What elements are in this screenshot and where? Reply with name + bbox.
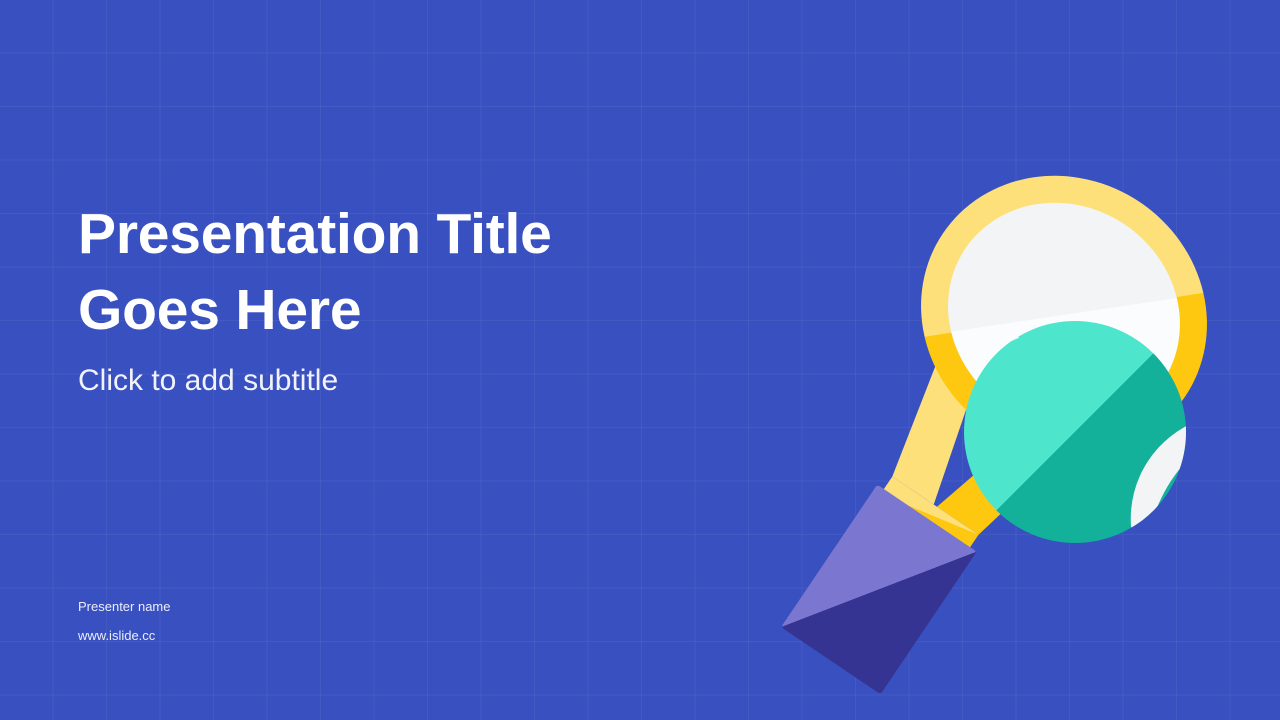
slide-subtitle[interactable]: Click to add subtitle (78, 363, 718, 399)
throat-strut-right (937, 407, 1068, 550)
slide-footer: Presenter name www.islide.cc (78, 592, 171, 650)
ball-body (964, 321, 1186, 543)
racket-head-frame (867, 121, 1261, 510)
presentation-slide: Presentation Title Goes Here Click to ad… (0, 0, 1280, 720)
throat-strut-left (870, 362, 1001, 505)
ball-seam-lower-right (1131, 420, 1245, 574)
tennis-ball (905, 290, 1245, 574)
racket-shaft (881, 477, 979, 553)
ball-seams (905, 290, 1245, 574)
racket-string-bed (904, 158, 1223, 472)
racket-grip (781, 485, 977, 695)
page-title[interactable]: Presentation Title Goes Here (78, 196, 718, 348)
ball-seam-upper-left (905, 290, 1019, 444)
website-url[interactable]: www.islide.cc (78, 621, 171, 650)
presenter-name[interactable]: Presenter name (78, 592, 171, 621)
racket-throat (870, 362, 1068, 550)
racket-group (710, 121, 1261, 720)
slide-text-block: Presentation Title Goes Here Click to ad… (78, 196, 718, 399)
